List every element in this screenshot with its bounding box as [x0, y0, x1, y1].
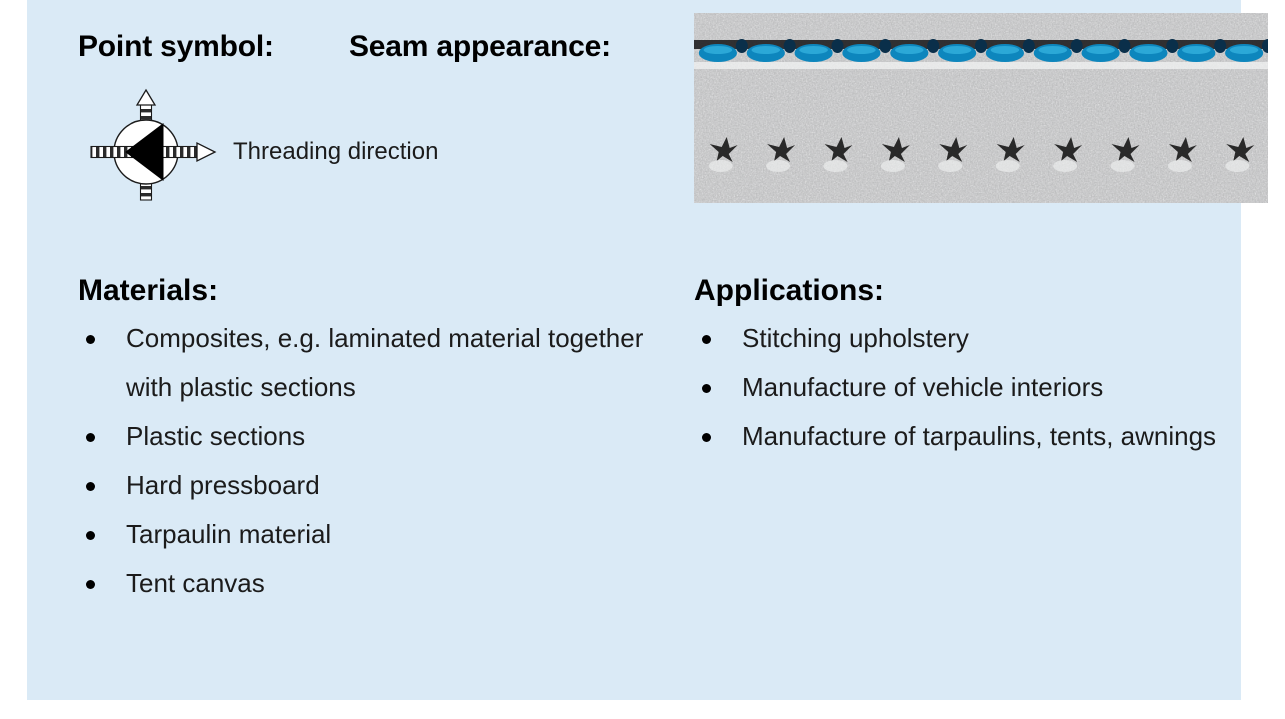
puncture-highlight — [881, 160, 905, 172]
stitch-knot — [1023, 39, 1035, 53]
list-item-label: Plastic sections — [126, 421, 305, 451]
content-panel: Point symbol: Seam appearance: — [27, 0, 1241, 700]
stitch-highlight — [1230, 46, 1259, 54]
materials-title: Materials: — [78, 276, 648, 306]
applications-list-item: Manufacture of vehicle interiors — [694, 363, 1264, 412]
bullet-dot-icon — [86, 531, 95, 540]
stitch-highlight — [1039, 46, 1068, 54]
stitch-highlight — [799, 46, 828, 54]
puncture-highlight — [709, 160, 733, 172]
stitch-knot — [879, 39, 891, 53]
applications-column: Applications: Stitching upholsteryManufa… — [694, 276, 1264, 461]
point-symbol-heading: Point symbol: — [78, 30, 274, 64]
puncture-highlight — [1225, 160, 1249, 172]
list-item-label: Composites, e.g. laminated material toge… — [126, 323, 643, 402]
list-item-label: Manufacture of vehicle interiors — [742, 372, 1103, 402]
list-item-label: Tent canvas — [126, 568, 265, 598]
applications-list-item: Manufacture of tarpaulins, tents, awning… — [694, 412, 1264, 461]
list-item-label: Stitching upholstery — [742, 323, 969, 353]
stitch-highlight — [1086, 46, 1115, 54]
list-item-label: Hard pressboard — [126, 470, 320, 500]
point-symbol-svg — [89, 88, 219, 216]
seam-appearance-heading: Seam appearance: — [349, 30, 611, 64]
stitch-knot — [1071, 39, 1083, 53]
materials-column: Materials: Composites, e.g. laminated ma… — [78, 276, 648, 608]
materials-list: Composites, e.g. laminated material toge… — [78, 314, 648, 608]
puncture-highlight — [1111, 160, 1135, 172]
materials-list-item: Tarpaulin material — [78, 510, 648, 559]
applications-list-item: Stitching upholstery — [694, 314, 1264, 363]
seam-appearance-photograph — [694, 13, 1268, 203]
puncture-highlight — [766, 160, 790, 172]
stitch-knot — [736, 39, 748, 53]
bullet-dot-icon — [702, 433, 711, 442]
stitch-highlight — [704, 46, 733, 54]
puncture-highlight — [1053, 160, 1077, 172]
list-item-label: Manufacture of tarpaulins, tents, awning… — [742, 421, 1216, 451]
stitch-knot — [1166, 39, 1178, 53]
applications-title: Applications: — [694, 276, 1264, 306]
materials-list-item: Tent canvas — [78, 559, 648, 608]
bullet-dot-icon — [86, 335, 95, 344]
stitch-knot — [927, 39, 939, 53]
puncture-highlight — [938, 160, 962, 172]
slide-root: Point symbol: Seam appearance: — [0, 0, 1285, 719]
materials-list-item: Hard pressboard — [78, 461, 648, 510]
stitch-highlight — [943, 46, 972, 54]
stitch-knot — [1119, 39, 1131, 53]
applications-list: Stitching upholsteryManufacture of vehic… — [694, 314, 1264, 461]
stitch-knot — [975, 39, 987, 53]
materials-list-item: Plastic sections — [78, 412, 648, 461]
stitch-highlight — [847, 46, 876, 54]
bullet-dot-icon — [86, 482, 95, 491]
bullet-dot-icon — [702, 384, 711, 393]
list-item-label: Tarpaulin material — [126, 519, 331, 549]
point-symbol-diagram — [89, 88, 219, 216]
stitch-highlight — [895, 46, 924, 54]
puncture-highlight — [996, 160, 1020, 172]
stitch-knot — [832, 39, 844, 53]
materials-list-item: Composites, e.g. laminated material toge… — [78, 314, 648, 412]
stitch-knot — [1214, 39, 1226, 53]
puncture-highlight — [824, 160, 848, 172]
seam-photo-svg — [694, 13, 1268, 203]
stitch-highlight — [991, 46, 1020, 54]
stitch-highlight — [1182, 46, 1211, 54]
bullet-dot-icon — [86, 433, 95, 442]
puncture-highlight — [1168, 160, 1192, 172]
bullet-dot-icon — [702, 335, 711, 344]
threading-direction-label: Threading direction — [233, 138, 438, 166]
bullet-dot-icon — [86, 580, 95, 589]
stitch-knot — [784, 39, 796, 53]
stitch-highlight — [1134, 46, 1163, 54]
stitch-highlight — [752, 46, 781, 54]
